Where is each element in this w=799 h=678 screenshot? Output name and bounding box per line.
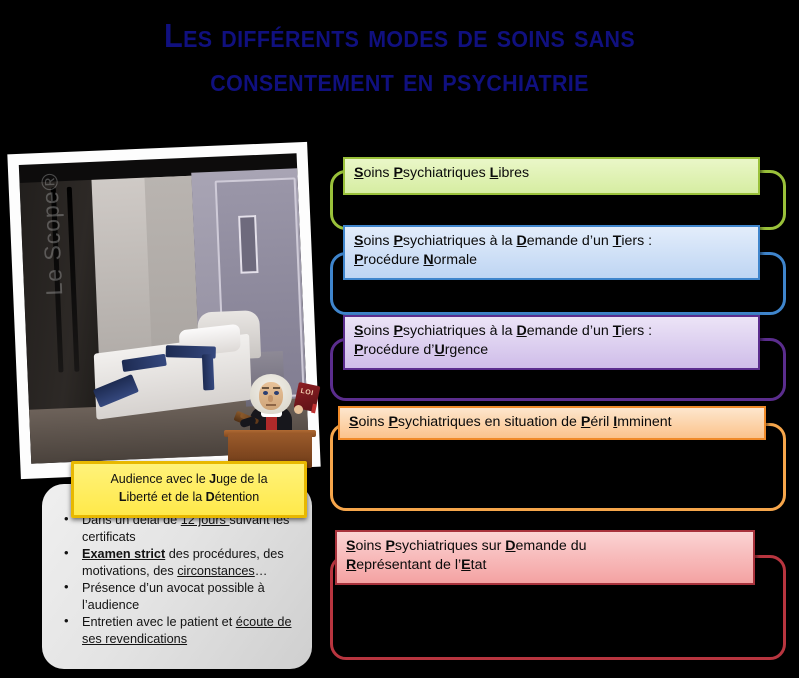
care-mode-label-line-2: Procédure d’Urgence: [354, 341, 749, 360]
judge-eyebrow-right: [273, 387, 280, 389]
jld-bullet-list: Dans un délai de 12 jours suivant les ce…: [56, 512, 306, 648]
jld-bullet-item: Présence d’un avocat possible à l’audien…: [56, 580, 306, 613]
restraint-strap-4: [202, 354, 215, 390]
judge-eye-right: [274, 391, 279, 395]
care-mode-label-spdre[interactable]: Soins Psychiatriques sur Demande duRepré…: [335, 530, 755, 585]
care-mode-label-line-1: Soins Psychiatriques en situation de Pér…: [349, 413, 755, 432]
page-title-line-1: Les différents modes de soins sans: [28, 14, 771, 58]
page-title-line-2: consentement en psychiatrie: [28, 58, 771, 102]
page-title: Les différents modes de soins sans conse…: [28, 14, 771, 101]
law-book-ribbon: [311, 404, 317, 414]
care-mode-label-line-1: Soins Psychiatriques Libres: [354, 164, 749, 183]
care-mode-label-spl[interactable]: Soins Psychiatriques Libres: [343, 157, 760, 195]
jld-bullet-item: Examen strict des procédures, des motiva…: [56, 546, 306, 579]
photo-watermark: Le Scope®: [36, 172, 68, 296]
judge-nose: [268, 395, 273, 402]
jld-caption-line-2: Liberté et de la Détention: [80, 489, 298, 507]
judge-eyebrow-left: [262, 387, 269, 389]
care-mode-label-sdtn[interactable]: Soins Psychiatriques à la Demande d’un T…: [343, 225, 760, 280]
care-mode-label-line-2: Représentant de l’Etat: [346, 556, 744, 575]
care-mode-label-line-1: Soins Psychiatriques à la Demande d’un T…: [354, 232, 749, 251]
judge-hand: [294, 405, 303, 414]
care-mode-label-line-1: Soins Psychiatriques à la Demande d’un T…: [354, 322, 749, 341]
care-mode-label-line-1: Soins Psychiatriques sur Demande du: [346, 537, 744, 556]
care-mode-label-line-2: Procédure Normale: [354, 251, 749, 270]
judge-eye-left: [263, 391, 268, 395]
jld-caption-line-1: Audience avec le Juge de la: [80, 471, 298, 489]
jld-caption-box: Audience avec le Juge de laLiberté et de…: [71, 461, 307, 518]
judge-mouth: [266, 404, 276, 406]
care-mode-label-spi[interactable]: Soins Psychiatriques en situation de Pér…: [338, 406, 766, 440]
door-window: [238, 215, 258, 274]
judge-illustration: LOI: [222, 372, 320, 468]
jld-bullet-item: Entretien avec le patient et écoute de s…: [56, 614, 306, 647]
care-mode-label-sdtu[interactable]: Soins Psychiatriques à la Demande d’un T…: [343, 315, 760, 370]
